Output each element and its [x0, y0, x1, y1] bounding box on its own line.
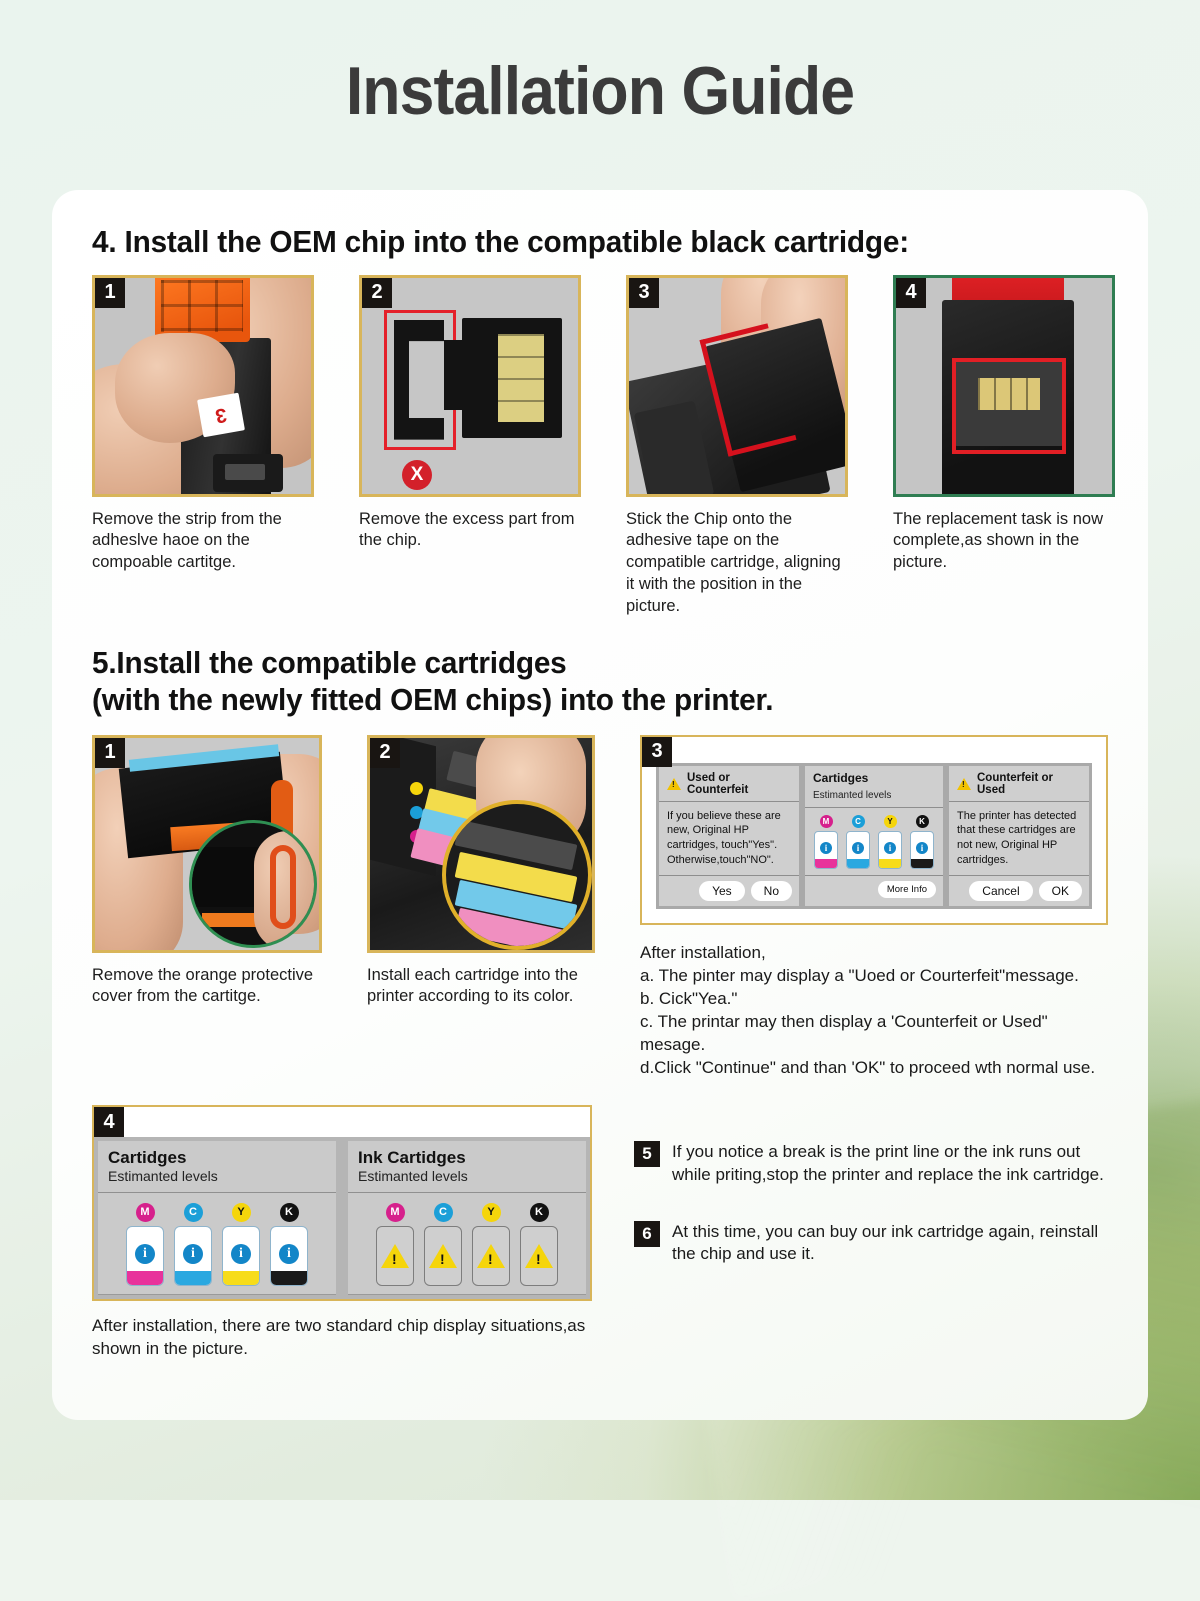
- step-badge: 4: [896, 278, 926, 308]
- info-icon: i: [852, 842, 864, 854]
- step-5-1-block: 1 Remove the orange protective cover fro…: [92, 735, 322, 1080]
- ink-indicator-y: Y: [471, 1203, 511, 1286]
- dialog-footer: Cancel OK: [949, 876, 1089, 906]
- notes-column: 5 If you notice a break is the print lin…: [634, 1105, 1108, 1360]
- dialog-cartridge-levels: Cartidges Estimanted levels M i: [805, 766, 943, 906]
- note-text: If you notice a break is the print line …: [672, 1141, 1108, 1187]
- ink-code-k: K: [916, 815, 929, 828]
- info-icon: i: [183, 1244, 203, 1264]
- ink-tank-m: i: [126, 1226, 164, 1286]
- ink-code-y: Y: [232, 1203, 251, 1222]
- note-6: 6 At this time, you can buy our ink cart…: [634, 1221, 1108, 1267]
- ink-code-c: C: [184, 1203, 203, 1222]
- caption-step-5-4: After installation, there are two standa…: [92, 1315, 592, 1361]
- after-line-1: a. The pinter may display a "Uoed or Cou…: [640, 964, 1108, 987]
- dialog-counterfeit-or-used: Counterfeit or Used The printer has dete…: [949, 766, 1089, 906]
- photo-step-4-2: 2 X: [359, 275, 581, 497]
- step-badge: 3: [629, 278, 659, 308]
- display-cartridges-normal: Cartidges Estimanted levels M i: [98, 1141, 336, 1295]
- gold-contacts: [498, 334, 544, 422]
- printer-dot-yellow: [410, 782, 423, 795]
- after-line-3: c. The printar may then display a 'Count…: [640, 1010, 1108, 1056]
- ink-fill: [127, 1271, 163, 1285]
- display-header: Cartidges Estimanted levels: [98, 1141, 336, 1193]
- step-badge: 1: [95, 278, 125, 308]
- cap-grid-texture: [161, 280, 243, 332]
- printer-dialog-frame: 3 Used or Counterfeit If you believe the…: [640, 735, 1108, 925]
- warning-triangle-icon: [429, 1244, 457, 1268]
- cartridge-foot: [213, 454, 283, 492]
- ink-indicator-k: K: [519, 1203, 559, 1286]
- dialog-footer: Yes No: [659, 876, 799, 906]
- ink-indicator-c: C i: [173, 1203, 213, 1286]
- ink-fill: [271, 1271, 307, 1285]
- ink-indicator-m: M i: [125, 1203, 165, 1286]
- warning-triangle-icon: [381, 1244, 409, 1268]
- info-icon: i: [231, 1244, 251, 1264]
- page-title: Installation Guide: [48, 0, 1152, 130]
- ink-level-row: M i C i: [98, 1193, 336, 1295]
- photo-step-4-3: 3: [626, 275, 848, 497]
- ink-code-m: M: [386, 1203, 405, 1222]
- step-badge: 2: [370, 738, 400, 768]
- caption-step-4-3: Stick the Chip onto the adhesive tape on…: [626, 509, 848, 618]
- note-5: 5 If you notice a break is the print lin…: [634, 1141, 1108, 1187]
- ink-indicator-c: C i: [845, 815, 871, 869]
- ink-tank-y: i: [878, 831, 902, 869]
- dialog-body-text: The printer has detected that these cart…: [949, 802, 1089, 876]
- ink-code-y: Y: [884, 815, 897, 828]
- ink-tank-y: i: [222, 1226, 260, 1286]
- photo-step-5-2: 2: [367, 735, 595, 953]
- ink-code-c: C: [434, 1203, 453, 1222]
- ink-code-y: Y: [482, 1203, 501, 1222]
- ink-code-c: C: [852, 815, 865, 828]
- section-4-captions: Remove the strip from the adheslve haoe …: [92, 509, 1108, 618]
- ink-code-k: K: [530, 1203, 549, 1222]
- dialog-body-text: If you believe these are new, Original H…: [659, 802, 799, 876]
- ink-fill: [175, 1271, 211, 1285]
- warning-triangle-icon: [957, 778, 971, 790]
- after-installation-notes: After installation, a. The pinter may di…: [640, 941, 1108, 1080]
- red-highlight-box: [952, 358, 1066, 454]
- ink-indicator-y: Y i: [877, 815, 903, 869]
- ink-indicator-k: K i: [269, 1203, 309, 1286]
- step-5-4-block: 4 Cartidges Estimanted levels M i: [92, 1105, 592, 1360]
- yes-button[interactable]: Yes: [699, 881, 745, 901]
- warning-triangle-icon: [525, 1244, 553, 1268]
- ink-tank-c: i: [846, 831, 870, 869]
- display-subtitle: Estimanted levels: [358, 1168, 468, 1184]
- ink-fill: [815, 859, 837, 868]
- ink-fill: [847, 859, 869, 868]
- warning-triangle-icon: [667, 778, 681, 790]
- section-4-photo-row: 1 3 2 X 3: [92, 275, 1108, 497]
- dialog-subtitle: Estimanted levels: [813, 790, 891, 801]
- more-info-button[interactable]: More Info: [878, 881, 936, 898]
- display-title: Ink Cartidges: [358, 1149, 576, 1168]
- ink-tank-c: i: [174, 1226, 212, 1286]
- ink-tank-k: i: [910, 831, 934, 869]
- chip-display-panel: 4 Cartidges Estimanted levels M i: [92, 1105, 592, 1301]
- ink-tank-warning-m: [376, 1226, 414, 1286]
- display-header: Ink Cartidges Estimanted levels: [348, 1141, 586, 1193]
- caption-step-4-2: Remove the excess part from the chip.: [359, 509, 581, 618]
- ok-button[interactable]: OK: [1039, 881, 1082, 901]
- no-button[interactable]: No: [751, 881, 792, 901]
- after-line-2: b. Cick"Yea.": [640, 987, 1108, 1010]
- adhesive-strip: 3: [197, 392, 245, 437]
- dialog-title: Cartidges: [813, 771, 935, 785]
- dialog-footer: More Info: [805, 876, 943, 903]
- info-icon: i: [135, 1244, 155, 1264]
- after-line-0: After installation,: [640, 941, 1108, 964]
- info-icon: i: [916, 842, 928, 854]
- ink-tank-warning-k: [520, 1226, 558, 1286]
- section-5-heading: 5.Install the compatible cartridges (wit…: [92, 645, 1067, 718]
- dialog-title-bar: Counterfeit or Used: [949, 766, 1089, 802]
- printer-dialog-group: Used or Counterfeit If you believe these…: [656, 763, 1092, 909]
- caption-step-5-2: Install each cartridge into the printer …: [367, 965, 595, 1009]
- step-badge: 4: [94, 1107, 124, 1137]
- ink-tank-warning-c: [424, 1226, 462, 1286]
- caption-step-4-1: Remove the strip from the adheslve haoe …: [92, 509, 314, 618]
- ink-code-m: M: [820, 815, 833, 828]
- step-badge: 3: [642, 737, 672, 767]
- info-icon: i: [279, 1244, 299, 1264]
- ink-tank-k: i: [270, 1226, 308, 1286]
- info-icon: i: [884, 842, 896, 854]
- cancel-button[interactable]: Cancel: [969, 881, 1032, 901]
- dialog-used-or-counterfeit: Used or Counterfeit If you believe these…: [659, 766, 799, 906]
- dialog-title: Counterfeit or Used: [977, 772, 1081, 796]
- bottom-row: 4 Cartidges Estimanted levels M i: [92, 1105, 1108, 1360]
- ink-level-strip: M i C i: [805, 808, 943, 876]
- magnifier-inset-yellow: [442, 800, 592, 950]
- section-5-row: 1 Remove the orange protective cover fro…: [92, 735, 1108, 1080]
- section-5-heading-line1: 5.Install the compatible cartridges: [92, 645, 1067, 682]
- display-title: Cartidges: [108, 1149, 326, 1168]
- ink-indicator-y: Y i: [221, 1203, 261, 1286]
- note-number: 5: [634, 1141, 660, 1167]
- ink-indicator-m: M: [375, 1203, 415, 1286]
- ink-tank-m: i: [814, 831, 838, 869]
- note-text: At this time, you can buy our ink cartri…: [672, 1221, 1108, 1267]
- dialog-title-bar: Cartidges Estimanted levels: [805, 766, 943, 808]
- ink-code-m: M: [136, 1203, 155, 1222]
- ink-fill: [223, 1271, 259, 1285]
- ink-code-k: K: [280, 1203, 299, 1222]
- strip-number: 3: [197, 392, 245, 437]
- caption-step-5-1: Remove the orange protective cover from …: [92, 965, 322, 1009]
- section-5-heading-line2: (with the newly fitted OEM chips) into t…: [92, 682, 1067, 719]
- dialog-title-bar: Used or Counterfeit: [659, 766, 799, 802]
- ink-tank-warning-y: [472, 1226, 510, 1286]
- content-card: 4. Install the OEM chip into the compati…: [52, 190, 1148, 1420]
- step-badge: 1: [95, 738, 125, 768]
- photo-step-4-1: 1 3: [92, 275, 314, 497]
- display-cartridges-warning: Ink Cartidges Estimanted levels M C: [348, 1141, 586, 1295]
- note-number: 6: [634, 1221, 660, 1247]
- after-line-4: d.Click "Continue" and than 'OK" to proc…: [640, 1056, 1108, 1079]
- ink-fill: [911, 859, 933, 868]
- caption-step-4-4: The replacement task is now complete,as …: [893, 509, 1115, 618]
- photo-step-5-1: 1: [92, 735, 322, 953]
- step-badge: 2: [362, 278, 392, 308]
- ink-indicator-c: C: [423, 1203, 463, 1286]
- ink-warning-row: M C Y K: [348, 1193, 586, 1295]
- ink-fill: [879, 859, 901, 868]
- display-subtitle: Estimanted levels: [108, 1168, 218, 1184]
- step-5-3-block: 3 Used or Counterfeit If you believe the…: [640, 735, 1108, 1080]
- ink-indicator-m: M i: [813, 815, 839, 869]
- display-pair: Cartidges Estimanted levels M i: [94, 1137, 590, 1299]
- x-mark-icon: X: [402, 460, 432, 490]
- step-5-2-block: 2 Install each cartridge into the printe…: [367, 735, 595, 1080]
- ink-indicator-k: K i: [909, 815, 935, 869]
- warning-triangle-icon: [477, 1244, 505, 1268]
- section-4-heading: 4. Install the OEM chip into the compati…: [92, 224, 1067, 261]
- dialog-title: Used or Counterfeit: [687, 772, 791, 796]
- info-icon: i: [820, 842, 832, 854]
- photo-step-4-4: 4: [893, 275, 1115, 497]
- magnifier-inset-green: [189, 820, 317, 948]
